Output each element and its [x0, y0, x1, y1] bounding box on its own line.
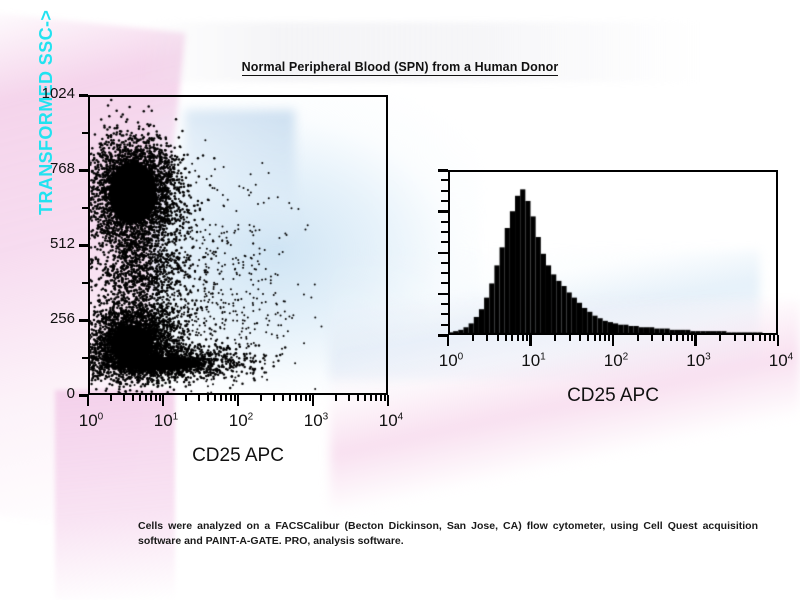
scatter-x-major-tick: [162, 395, 165, 406]
figure-caption: Cells were analyzed on a FACSCalibur (Be…: [138, 519, 758, 549]
histogram-x-minor-tick: [676, 335, 678, 341]
scatter-dotplot: TRANSFORMED SSC->: [88, 95, 388, 395]
scatter-x-minor-tick: [185, 395, 187, 401]
histogram-x-minor-tick: [517, 335, 519, 341]
histogram-x-minor-tick: [497, 335, 499, 341]
scatter-y-tick-label: 1024: [42, 85, 75, 102]
scatter-x-minor-tick: [214, 395, 216, 401]
scatter-y-tick-label: 0: [67, 385, 75, 402]
scatter-x-minor-tick: [230, 395, 232, 401]
histogram-x-minor-tick: [744, 335, 746, 341]
scatter-x-minor-tick: [123, 395, 125, 401]
scatter-y-major-tick: [79, 94, 88, 97]
histogram-x-major-tick: [612, 335, 615, 346]
scatter-y-tick-label: 768: [50, 160, 75, 177]
histogram-x-minor-tick: [554, 335, 556, 341]
scatter-x-minor-tick: [305, 395, 307, 401]
histogram-y-minor-tick: [441, 313, 448, 315]
histogram-x-minor-tick: [687, 335, 689, 341]
flow-cytometry-figure: Normal Peripheral Blood (SPN) from a Hum…: [0, 0, 800, 600]
scatter-x-minor-tick: [139, 395, 141, 401]
histogram-y-minor-tick: [441, 282, 448, 284]
scatter-x-minor-tick: [110, 395, 112, 401]
scatter-x-minor-tick: [300, 395, 302, 401]
histogram-y-major-tick: [438, 210, 448, 213]
scatter-x-minor-tick: [225, 395, 227, 401]
scatter-y-axis-title: TRANSFORMED SSC->: [36, 10, 57, 215]
histogram-x-minor-tick: [604, 335, 606, 341]
scatter-x-major-tick: [87, 395, 90, 406]
histogram-x-minor-tick: [594, 335, 596, 341]
scatter-y-minor-tick: [82, 207, 88, 209]
caption-line-1: Cells were analyzed on a FACSCalibur (Be…: [138, 520, 698, 532]
histogram-y-minor-tick: [441, 272, 448, 274]
histogram-y-major-tick: [438, 293, 448, 296]
histogram-x-minor-tick: [637, 335, 639, 341]
histogram-x-minor-tick: [670, 335, 672, 341]
histogram-x-minor-tick: [691, 335, 693, 341]
scatter-x-minor-tick: [155, 395, 157, 401]
scatter-x-minor-tick: [150, 395, 152, 401]
histogram-y-minor-tick: [441, 231, 448, 233]
histogram-x-minor-tick: [579, 335, 581, 341]
histogram-y-major-tick: [438, 334, 448, 337]
histogram-x-minor-tick: [769, 335, 771, 341]
histogram-y-major-tick: [438, 169, 448, 172]
histogram-x-tick-label: 103: [679, 351, 719, 371]
histogram-y-minor-tick: [441, 324, 448, 326]
scatter-x-tick-label: 103: [296, 411, 336, 431]
scatter-x-minor-tick: [145, 395, 147, 401]
histogram-x-minor-tick: [734, 335, 736, 341]
scatter-x-minor-tick: [234, 395, 236, 401]
histogram-x-major-tick: [694, 335, 697, 346]
scatter-x-minor-tick: [375, 395, 377, 401]
histogram-x-axis-title: CD25 APC: [448, 385, 778, 407]
histogram-x-minor-tick: [773, 335, 775, 341]
histogram-x-minor-tick: [662, 335, 664, 341]
scatter-x-tick-label: 100: [71, 411, 111, 431]
scatter-x-minor-tick: [384, 395, 386, 401]
scatter-x-minor-tick: [335, 395, 337, 401]
histogram-x-minor-tick: [522, 335, 524, 341]
histogram-x-major-tick: [529, 335, 532, 346]
scatter-x-major-tick: [312, 395, 315, 406]
histogram-x-major-tick: [447, 335, 450, 346]
cd25-histogram: [448, 170, 778, 335]
scatter-y-major-tick: [79, 169, 88, 172]
scatter-x-minor-tick: [282, 395, 284, 401]
scatter-y-major-tick: [79, 244, 88, 247]
scatter-x-minor-tick: [132, 395, 134, 401]
histogram-x-minor-tick: [599, 335, 601, 341]
scatter-x-minor-tick: [220, 395, 222, 401]
scatter-y-tick-label: 256: [50, 310, 75, 327]
scatter-x-tick-label: 102: [221, 411, 261, 431]
scatter-x-minor-tick: [348, 395, 350, 401]
scatter-x-minor-tick: [159, 395, 161, 401]
scatter-y-tick-label: 512: [50, 235, 75, 252]
histogram-x-minor-tick: [682, 335, 684, 341]
histogram-x-minor-tick: [764, 335, 766, 341]
figure-title: Normal Peripheral Blood (SPN) from a Hum…: [0, 60, 800, 74]
scatter-x-major-tick: [237, 395, 240, 406]
histogram-x-major-tick: [777, 335, 780, 346]
scatter-x-minor-tick: [289, 395, 291, 401]
histogram-x-tick-label: 100: [431, 351, 471, 371]
histogram-x-tick-label: 102: [596, 351, 636, 371]
scatter-x-minor-tick: [380, 395, 382, 401]
figure-title-text: Normal Peripheral Blood (SPN) from a Hum…: [242, 60, 559, 76]
scatter-x-minor-tick: [309, 395, 311, 401]
histogram-y-minor-tick: [441, 179, 448, 181]
scatter-plot-frame: [88, 95, 388, 395]
histogram-y-minor-tick: [441, 241, 448, 243]
histogram-y-minor-tick: [441, 200, 448, 202]
scatter-x-minor-tick: [260, 395, 262, 401]
histogram-x-minor-tick: [569, 335, 571, 341]
histogram-x-tick-label: 101: [514, 351, 554, 371]
histogram-y-minor-tick: [441, 221, 448, 223]
scatter-y-minor-tick: [82, 132, 88, 134]
scatter-y-minor-tick: [82, 357, 88, 359]
scatter-y-minor-tick: [82, 282, 88, 284]
histogram-plot-frame: [448, 170, 778, 335]
histogram-x-minor-tick: [752, 335, 754, 341]
scatter-x-major-tick: [387, 395, 390, 406]
scatter-y-major-tick: [79, 319, 88, 322]
scatter-x-minor-tick: [370, 395, 372, 401]
histogram-y-minor-tick: [441, 262, 448, 264]
histogram-x-minor-tick: [472, 335, 474, 341]
histogram-x-minor-tick: [587, 335, 589, 341]
histogram-x-minor-tick: [651, 335, 653, 341]
scatter-x-axis-title: CD25 APC: [88, 445, 388, 467]
scatter-x-minor-tick: [357, 395, 359, 401]
histogram-y-minor-tick: [441, 190, 448, 192]
histogram-x-minor-tick: [511, 335, 513, 341]
histogram-y-major-tick: [438, 252, 448, 255]
scatter-x-tick-label: 104: [371, 411, 411, 431]
histogram-x-minor-tick: [719, 335, 721, 341]
scatter-x-minor-tick: [207, 395, 209, 401]
scatter-x-minor-tick: [198, 395, 200, 401]
histogram-x-minor-tick: [505, 335, 507, 341]
histogram-x-tick-label: 104: [761, 351, 800, 371]
scatter-x-minor-tick: [364, 395, 366, 401]
histogram-x-minor-tick: [486, 335, 488, 341]
scatter-x-minor-tick: [295, 395, 297, 401]
histogram-y-minor-tick: [441, 303, 448, 305]
scatter-x-minor-tick: [273, 395, 275, 401]
histogram-x-minor-tick: [759, 335, 761, 341]
scatter-x-tick-label: 101: [146, 411, 186, 431]
histogram-x-minor-tick: [608, 335, 610, 341]
histogram-x-minor-tick: [526, 335, 528, 341]
